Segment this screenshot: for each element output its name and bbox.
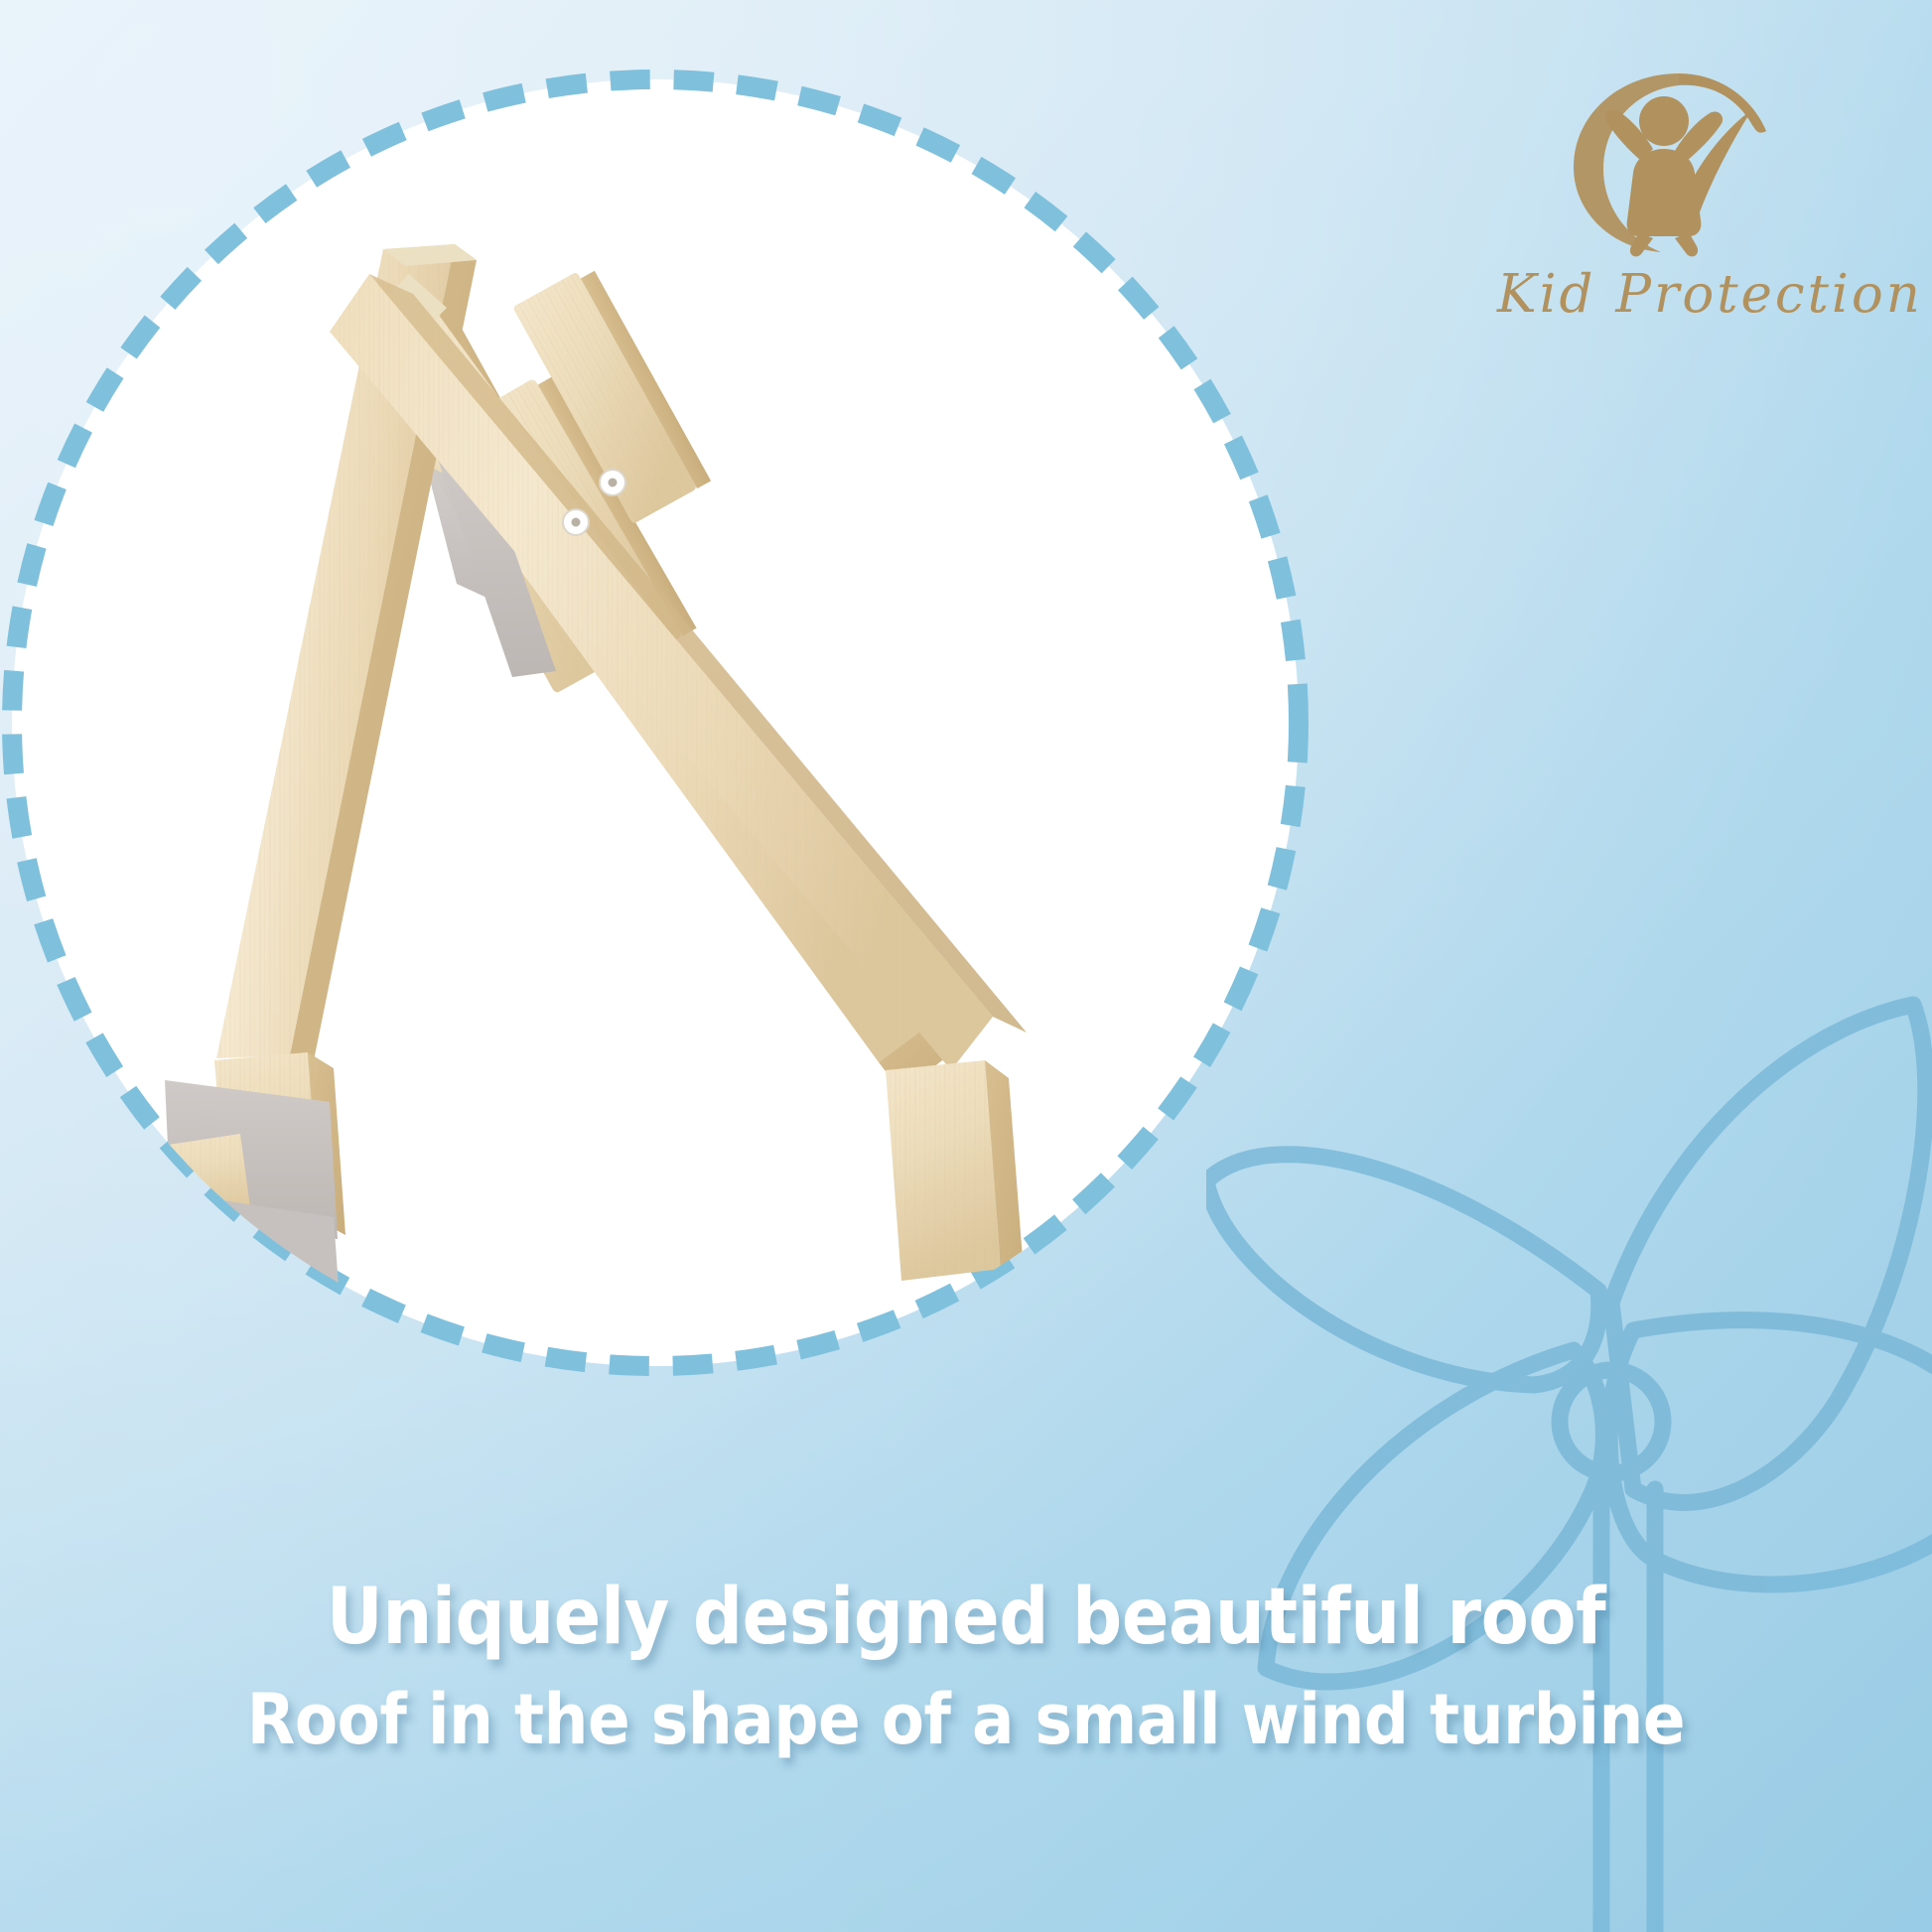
screw-caps-lower bbox=[114, 1196, 142, 1258]
kid-protection-icon bbox=[1562, 62, 1790, 270]
product-marketing-poster: Kid Protection Uniquely designed beautif… bbox=[0, 0, 1932, 1932]
kid-protection-label: Kid Protection bbox=[1497, 264, 1855, 325]
kid-protection-badge: Kid Protection bbox=[1497, 62, 1855, 325]
subheadline-text: Roof in the shape of a small wind turbin… bbox=[96, 1678, 1835, 1761]
wood-post-bottom-right bbox=[886, 1060, 1025, 1285]
caption-block: Uniquely designed beautiful roof Roof in… bbox=[0, 1573, 1932, 1761]
headline-text: Uniquely designed beautiful roof bbox=[96, 1573, 1835, 1662]
product-circle-frame bbox=[0, 48, 1330, 1398]
